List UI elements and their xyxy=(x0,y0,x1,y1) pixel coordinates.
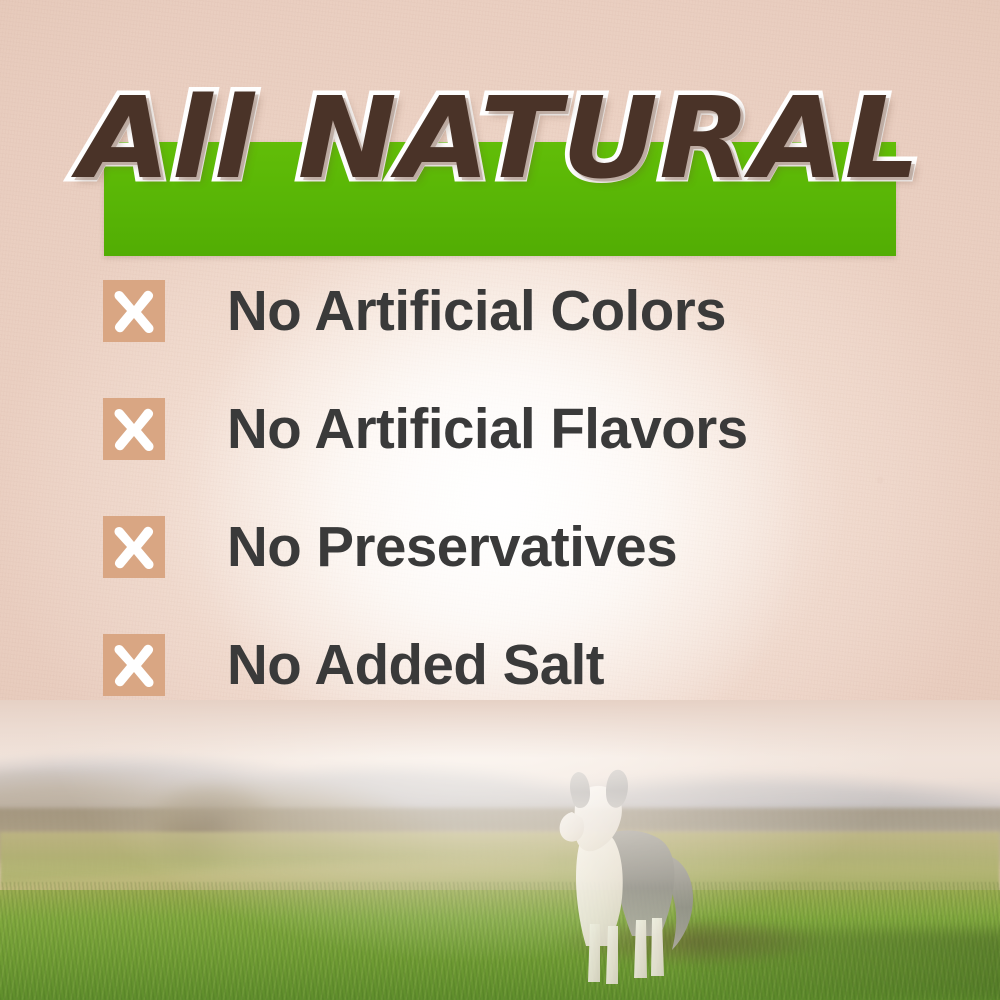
landscape-photo xyxy=(0,700,1000,1000)
headline-title: All NATURAL xyxy=(0,74,1000,204)
x-mark-icon xyxy=(103,516,165,578)
x-mark-icon xyxy=(103,398,165,460)
headline-banner: All NATURAL xyxy=(0,74,1000,204)
feature-label: No Preservatives xyxy=(227,516,677,578)
feature-item: No Preservatives xyxy=(103,488,933,606)
feature-item: No Artificial Flavors xyxy=(103,370,933,488)
x-mark-icon xyxy=(103,280,165,342)
product-feature-poster: All NATURAL No Artificial Colors No Arti… xyxy=(0,0,1000,1000)
x-mark-icon xyxy=(103,634,165,696)
feature-label: No Added Salt xyxy=(227,634,604,696)
ground-shadow xyxy=(690,930,1000,1000)
feature-item: No Artificial Colors xyxy=(103,252,933,370)
feature-list: No Artificial Colors No Artificial Flavo… xyxy=(103,252,933,724)
feature-label: No Artificial Colors xyxy=(227,280,726,342)
feature-label: No Artificial Flavors xyxy=(227,398,748,460)
dog-silhouette xyxy=(520,764,720,994)
